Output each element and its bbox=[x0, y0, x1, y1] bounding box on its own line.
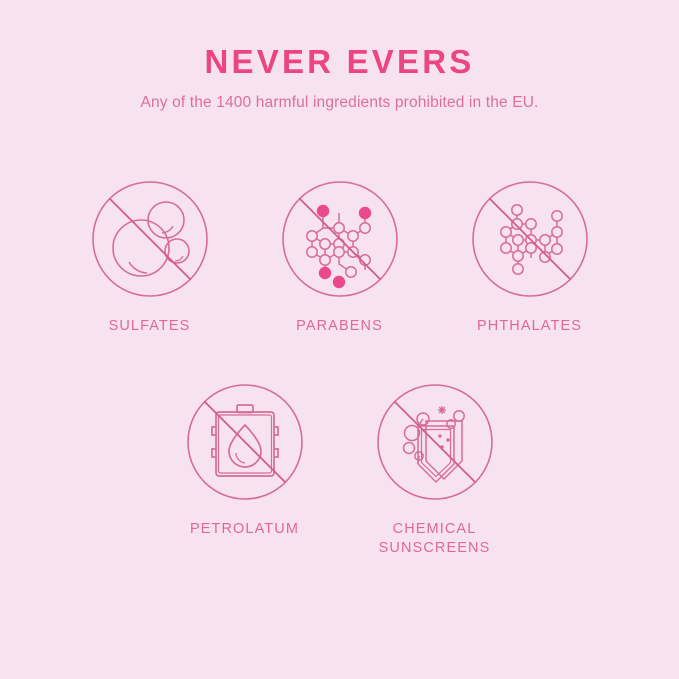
header: NEVER EVERS Any of the 1400 harmful ingr… bbox=[0, 0, 679, 111]
grid-item-sulfates: SULFATES bbox=[80, 178, 220, 337]
grid-item-parabens: PARABENS bbox=[270, 178, 410, 337]
page-title: NEVER EVERS bbox=[0, 45, 679, 78]
no-petrolatum-oil-barrel-icon bbox=[184, 381, 306, 503]
ingredient-grid: SULFATES bbox=[0, 178, 679, 559]
grid-item-chemical-sunscreens: CHEMICAL SUNSCREENS bbox=[365, 381, 505, 559]
item-label: PETROLATUM bbox=[190, 520, 299, 540]
item-label: PARABENS bbox=[296, 317, 383, 337]
page-subtitle: Any of the 1400 harmful ingredients proh… bbox=[0, 95, 679, 111]
no-sulfates-bubbles-icon bbox=[89, 178, 211, 300]
grid-item-phthalates: PHTHALATES bbox=[460, 178, 600, 337]
grid-row-2: PETROLATUM bbox=[0, 381, 679, 559]
never-evers-infographic: NEVER EVERS Any of the 1400 harmful ingr… bbox=[0, 0, 679, 679]
item-label: SULFATES bbox=[109, 317, 191, 337]
item-label: CHEMICAL SUNSCREENS bbox=[379, 520, 491, 559]
item-label: PHTHALATES bbox=[477, 317, 582, 337]
no-chemical-sunscreen-shield-icon bbox=[374, 381, 496, 503]
grid-row-1: SULFATES bbox=[0, 178, 679, 337]
grid-item-petrolatum: PETROLATUM bbox=[175, 381, 315, 559]
no-phthalates-molecule-icon bbox=[469, 178, 591, 300]
no-parabens-molecule-icon bbox=[279, 178, 401, 300]
